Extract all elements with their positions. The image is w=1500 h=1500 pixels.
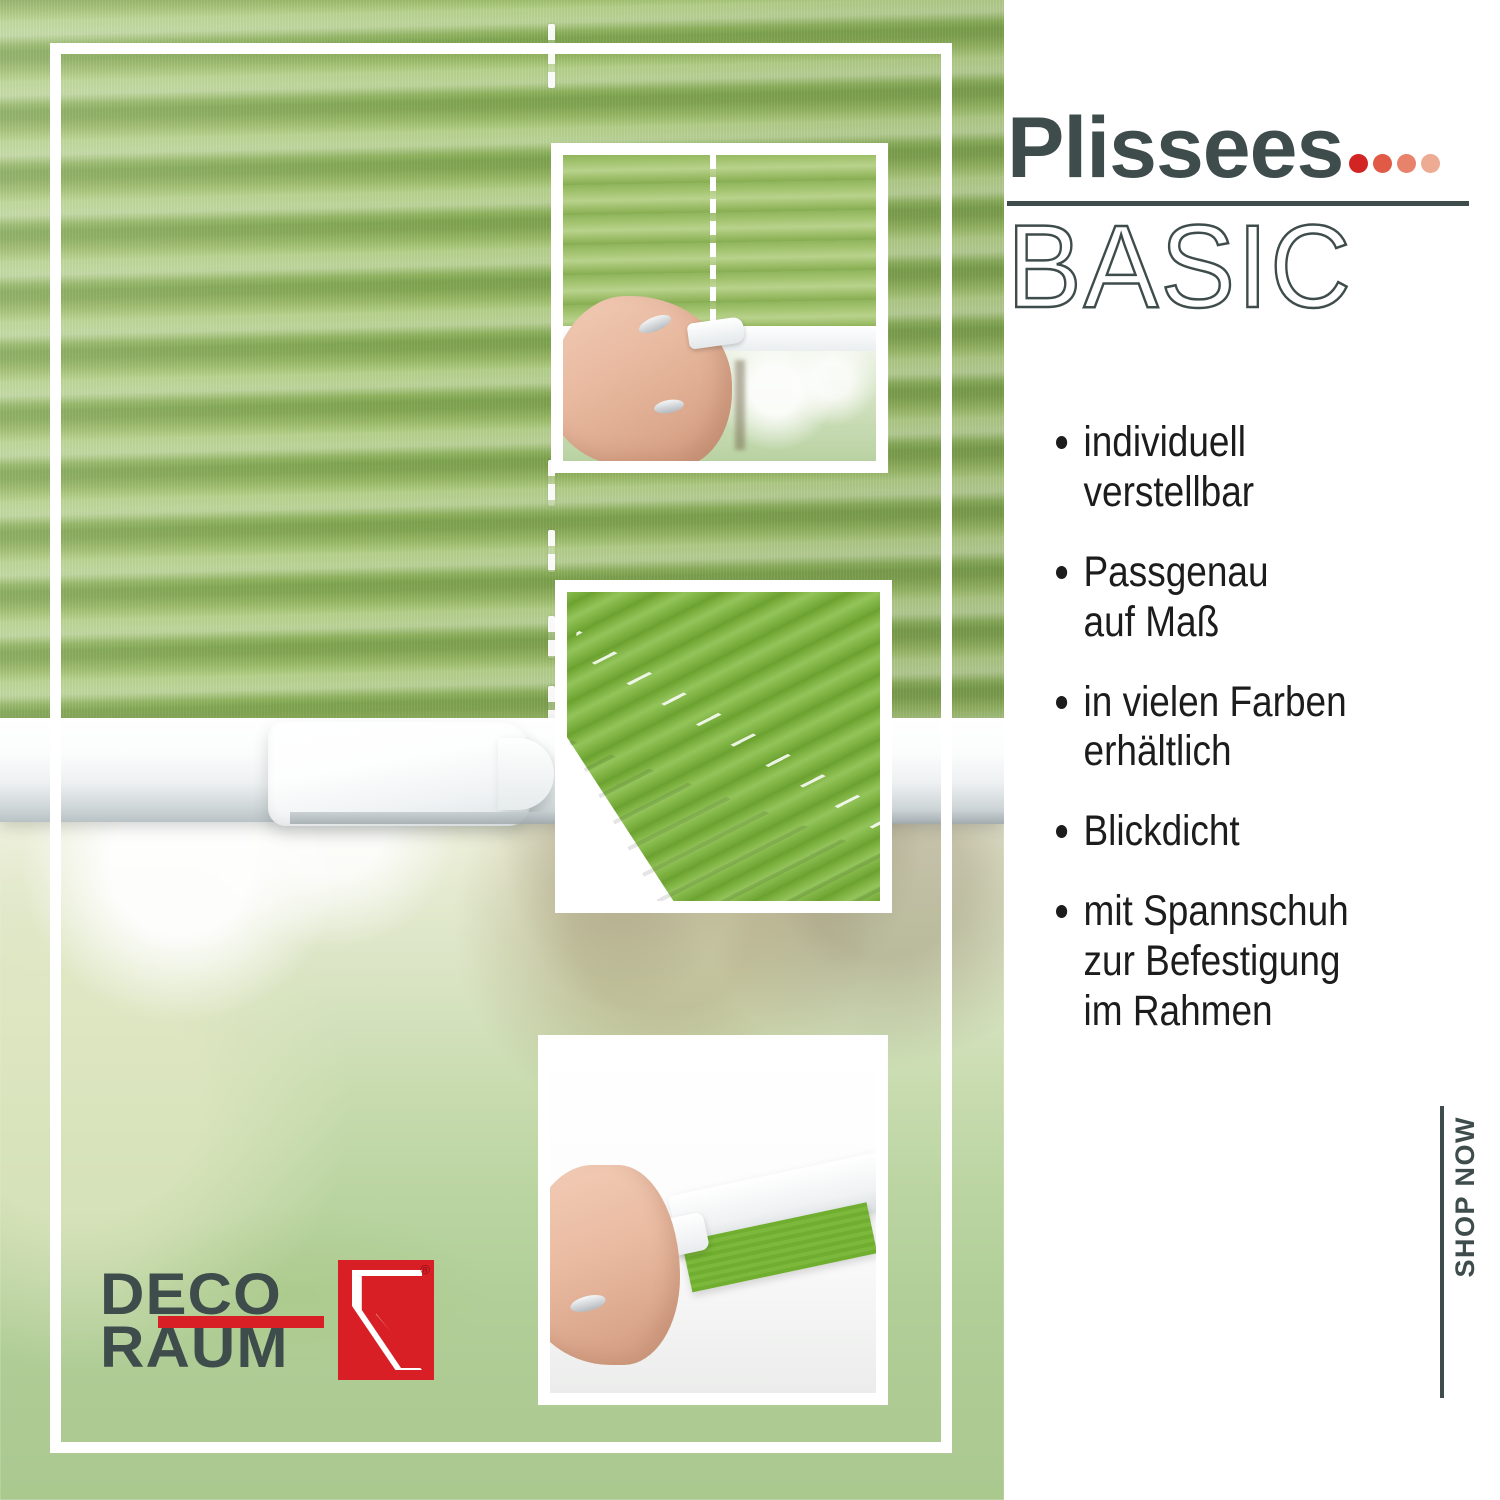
feature-text: in vielen Farben erhältlich <box>1084 678 1347 778</box>
title-block: Plissees BASIC <box>1007 110 1477 326</box>
bullet-dot-icon <box>1056 566 1067 579</box>
shop-now-cta[interactable]: SHOP NOW <box>1412 1106 1492 1398</box>
logo-line-deco: DECO <box>100 1268 350 1321</box>
blind-cord-icon <box>548 530 555 572</box>
inset-photo-assembly <box>538 1035 888 1405</box>
inset-photo-pleat-closeup <box>555 580 892 913</box>
feature-text: Passgenau auf Maß <box>1084 548 1269 648</box>
shop-now-label[interactable]: SHOP NOW <box>1452 1116 1479 1394</box>
logo-line-raum: RAUM <box>100 1321 350 1374</box>
decoraum-logo[interactable]: DECO RAUM ® <box>100 1258 434 1384</box>
list-item: Blickdicht <box>1056 807 1417 857</box>
page-title-row: Plissees <box>1007 110 1477 187</box>
feature-text: mit Spannschuh zur Befestigung im Rahmen <box>1084 887 1349 1037</box>
bullet-dot-icon <box>1056 905 1067 918</box>
title-dot-1 <box>1349 154 1368 173</box>
list-item: Passgenau auf Maß <box>1056 548 1417 648</box>
list-item: mit Spannschuh zur Befestigung im Rahmen <box>1056 887 1417 1037</box>
cta-vertical-rule <box>1440 1106 1444 1398</box>
shop-now-label-wrap[interactable]: SHOP NOW <box>1452 838 1479 1116</box>
page-subtitle: BASIC <box>1007 208 1454 326</box>
bullet-dot-icon <box>1056 696 1067 709</box>
blind-grip-handle <box>268 722 530 826</box>
bullet-dot-icon <box>1056 825 1067 838</box>
list-item: individuell verstellbar <box>1056 418 1417 518</box>
registered-trademark-icon: ® <box>420 1263 430 1276</box>
title-dots-icon <box>1349 154 1440 173</box>
blind-cord-icon <box>548 24 555 88</box>
poster-root: DECO RAUM ® Plissees BASIC <box>0 0 1500 1500</box>
feature-text: Blickdicht <box>1084 807 1240 857</box>
feature-list: individuell verstellbar Passgenau auf Ma… <box>1056 418 1476 1067</box>
list-item: in vielen Farben erhältlich <box>1056 678 1417 778</box>
blind-cord-icon <box>548 616 555 658</box>
bullet-dot-icon <box>1056 436 1067 449</box>
feature-text: individuell verstellbar <box>1084 418 1255 518</box>
blind-cord-icon <box>548 686 555 720</box>
title-dot-2 <box>1373 154 1392 173</box>
logo-red-bar <box>158 1316 324 1328</box>
main-photo-panel: DECO RAUM ® <box>0 0 1004 1500</box>
page-title: Plissees <box>1007 110 1343 187</box>
title-dot-4 <box>1421 154 1440 173</box>
title-dot-3 <box>1397 154 1416 173</box>
inset-photo-hand-adjusting-blind <box>551 143 888 473</box>
logo-red-square-icon: ® <box>338 1260 434 1380</box>
